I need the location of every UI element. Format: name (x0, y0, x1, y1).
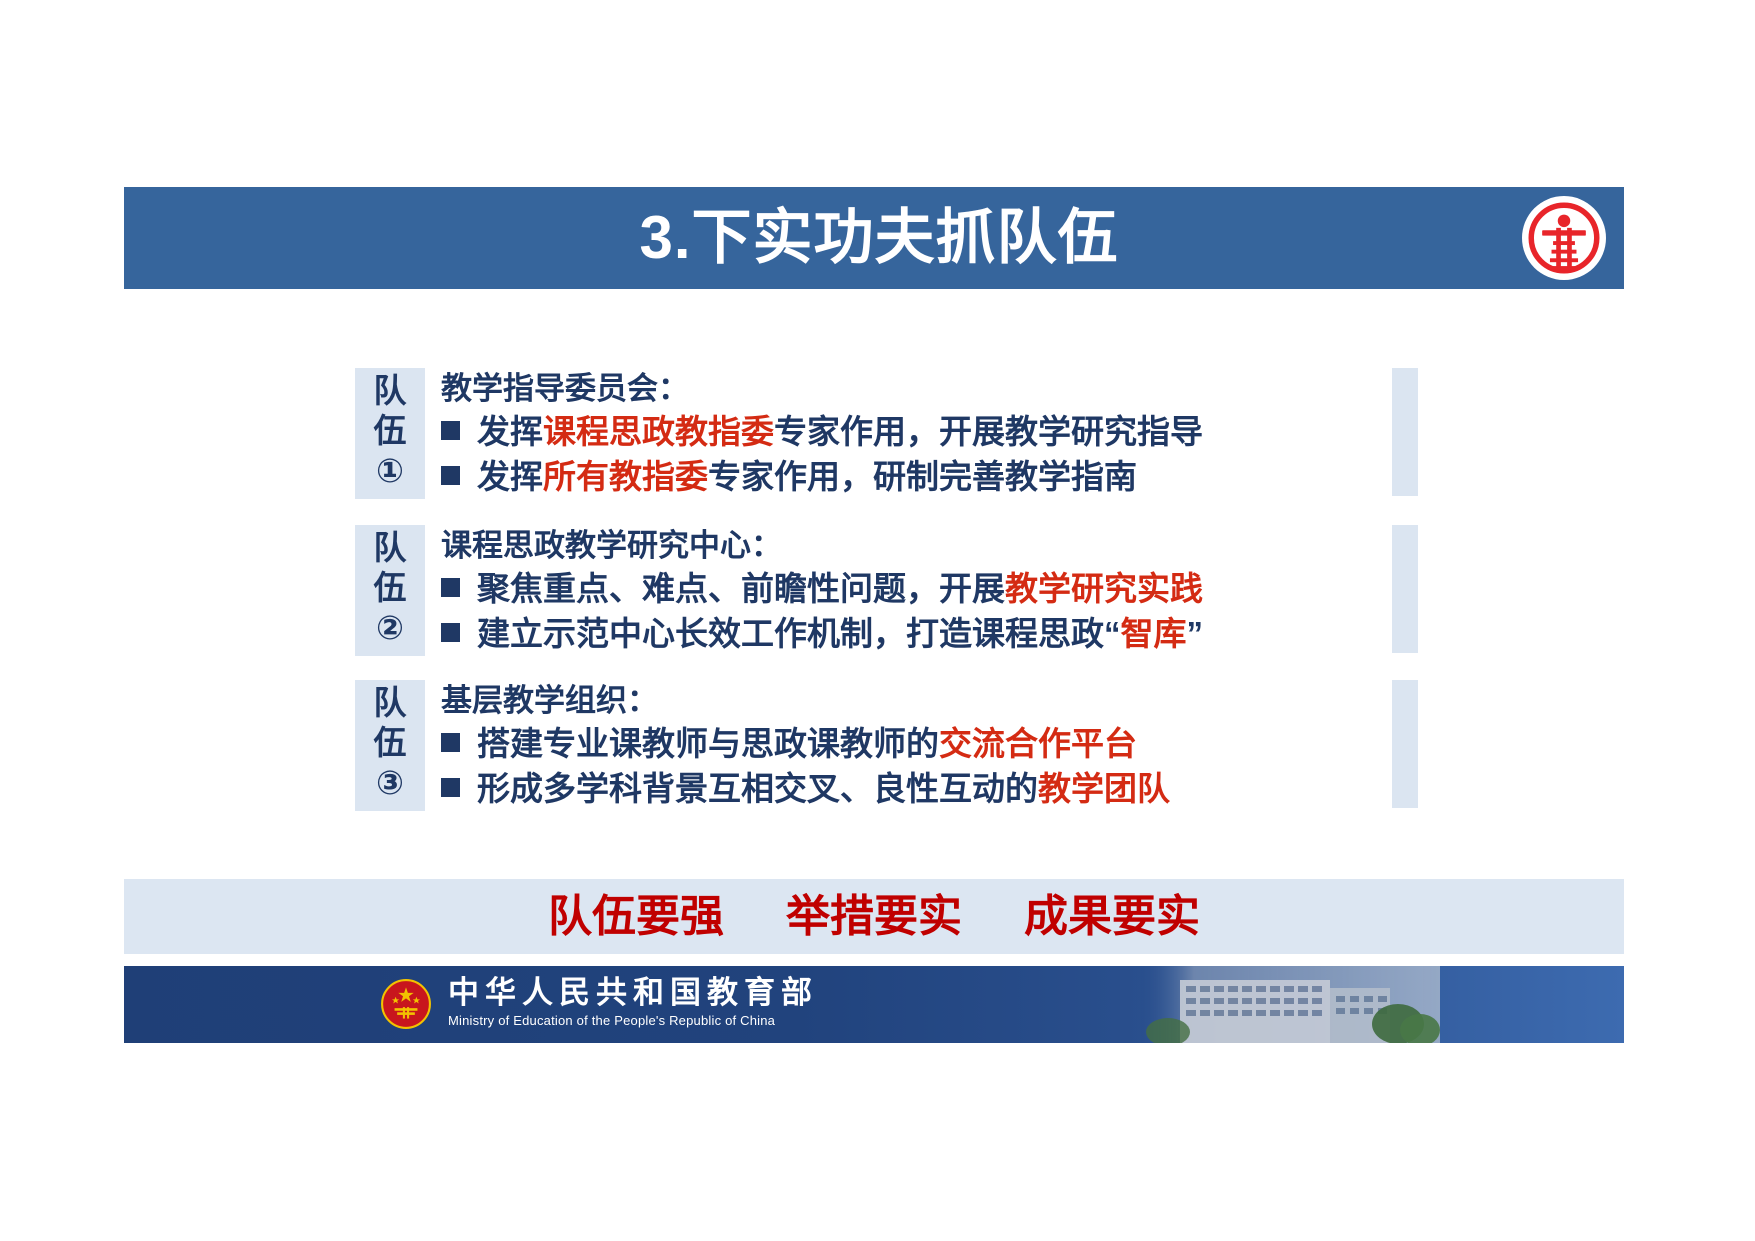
block-accent-bar (1392, 680, 1418, 808)
block-tag-number: ③ (355, 763, 425, 803)
bullet-text-segment: ” (1187, 615, 1204, 652)
building-photo-icon (1140, 966, 1440, 1043)
bullet-line: 建立示范中心长效工作机制，打造课程思政“智库” (441, 611, 1390, 656)
bullet-text: 建立示范中心长效工作机制，打造课程思政“智库” (477, 611, 1203, 656)
bullet-text-segment: 交流合作平台 (939, 725, 1137, 762)
summary-item: 队伍要强 (548, 895, 724, 939)
bullet-line: 发挥所有教指委专家作用，研制完善教学指南 (441, 454, 1390, 499)
content-block-2: 队 伍 ② 课程思政教学研究中心： 聚焦重点、难点、前瞻性问题，开展教学研究实践… (355, 525, 1390, 656)
slide-title-bar: 3.下实功夫抓队伍 (124, 187, 1624, 289)
summary-item: 成果要实 (1024, 895, 1200, 939)
bullet-square-icon (441, 578, 460, 597)
bullet-text-segment: 专家作用，研制完善教学指南 (708, 458, 1137, 495)
bullet-text-segment: 所有教指委 (543, 458, 708, 495)
block-body-3: 基层教学组织： 搭建专业课教师与思政课教师的交流合作平台 形成多学科背景互相交叉… (425, 680, 1390, 811)
block-heading: 教学指导委员会： (441, 368, 1390, 409)
block-body-1: 教学指导委员会： 发挥课程思政教指委专家作用，开展教学研究指导 发挥所有教指委专… (425, 368, 1390, 499)
bullet-text: 发挥所有教指委专家作用，研制完善教学指南 (477, 454, 1137, 499)
bullet-text: 搭建专业课教师与思政课教师的交流合作平台 (477, 721, 1137, 766)
footer-ministry-cn: 中华人民共和国教育部 (448, 974, 818, 1012)
block-body-2: 课程思政教学研究中心： 聚焦重点、难点、前瞻性问题，开展教学研究实践 建立示范中… (425, 525, 1390, 656)
bullet-text-segment: 形成多学科背景互相交叉、良性互动的 (477, 770, 1038, 807)
block-heading: 课程思政教学研究中心： (441, 525, 1390, 566)
bullet-text-segment: 发挥 (477, 413, 543, 450)
bullet-text: 聚焦重点、难点、前瞻性问题，开展教学研究实践 (477, 566, 1203, 611)
bullet-line: 发挥课程思政教指委专家作用，开展教学研究指导 (441, 409, 1390, 454)
block-tag-char: 队 (355, 528, 425, 568)
red-circular-emblem-icon (1522, 196, 1606, 280)
bullet-line: 聚焦重点、难点、前瞻性问题，开展教学研究实践 (441, 566, 1390, 611)
block-tag-char: 伍 (355, 568, 425, 608)
bullet-text-segment: 课程思政教指委 (543, 413, 774, 450)
block-tag-3: 队 伍 ③ (355, 680, 425, 811)
bullet-text-segment: 专家作用，开展教学研究指导 (774, 413, 1203, 450)
bullet-text: 形成多学科背景互相交叉、良性互动的教学团队 (477, 766, 1170, 811)
slide-canvas: 3.下实功夫抓队伍 队 伍 ① 教学指导委员会： (0, 0, 1755, 1241)
content-block-1: 队 伍 ① 教学指导委员会： 发挥课程思政教指委专家作用，开展教学研究指导 发挥… (355, 368, 1390, 499)
footer-ministry-en: Ministry of Education of the People's Re… (448, 1012, 818, 1029)
page-title: 3.下实功夫抓队伍 (639, 208, 1118, 268)
block-tag-char: 队 (355, 371, 425, 411)
slide-footer: 中华人民共和国教育部 Ministry of Education of the … (124, 966, 1624, 1043)
block-tag-2: 队 伍 ② (355, 525, 425, 656)
summary-item: 举措要实 (786, 895, 962, 939)
bullet-text: 发挥课程思政教指委专家作用，开展教学研究指导 (477, 409, 1203, 454)
content-block-3: 队 伍 ③ 基层教学组织： 搭建专业课教师与思政课教师的交流合作平台 形成多学科… (355, 680, 1390, 811)
bullet-text-segment: 聚焦重点、难点、前瞻性问题，开展 (477, 570, 1005, 607)
bullet-square-icon (441, 421, 460, 440)
summary-bar: 队伍要强 举措要实 成果要实 (124, 879, 1624, 954)
block-tag-number: ② (355, 608, 425, 648)
footer-ministry-text: 中华人民共和国教育部 Ministry of Education of the … (448, 974, 818, 1029)
china-national-emblem-icon (380, 978, 432, 1030)
bullet-square-icon (441, 623, 460, 642)
block-accent-bar (1392, 525, 1418, 653)
bullet-text-segment: 发挥 (477, 458, 543, 495)
bullet-text-segment: 建立示范中心长效工作机制，打造课程思政“ (477, 615, 1121, 652)
block-heading: 基层教学组织： (441, 680, 1390, 721)
bullet-text-segment: 搭建专业课教师与思政课教师的 (477, 725, 939, 762)
bullet-square-icon (441, 733, 460, 752)
block-tag-char: 队 (355, 683, 425, 723)
bullet-text-segment: 智库 (1121, 615, 1187, 652)
block-accent-bar (1392, 368, 1418, 496)
bullet-text-segment: 教学团队 (1038, 770, 1170, 807)
bullet-line: 形成多学科背景互相交叉、良性互动的教学团队 (441, 766, 1390, 811)
bullet-square-icon (441, 778, 460, 797)
bullet-line: 搭建专业课教师与思政课教师的交流合作平台 (441, 721, 1390, 766)
bullet-text-segment: 教学研究实践 (1005, 570, 1203, 607)
block-tag-1: 队 伍 ① (355, 368, 425, 499)
bullet-square-icon (441, 466, 460, 485)
block-tag-char: 伍 (355, 411, 425, 451)
block-tag-number: ① (355, 451, 425, 491)
block-tag-char: 伍 (355, 723, 425, 763)
